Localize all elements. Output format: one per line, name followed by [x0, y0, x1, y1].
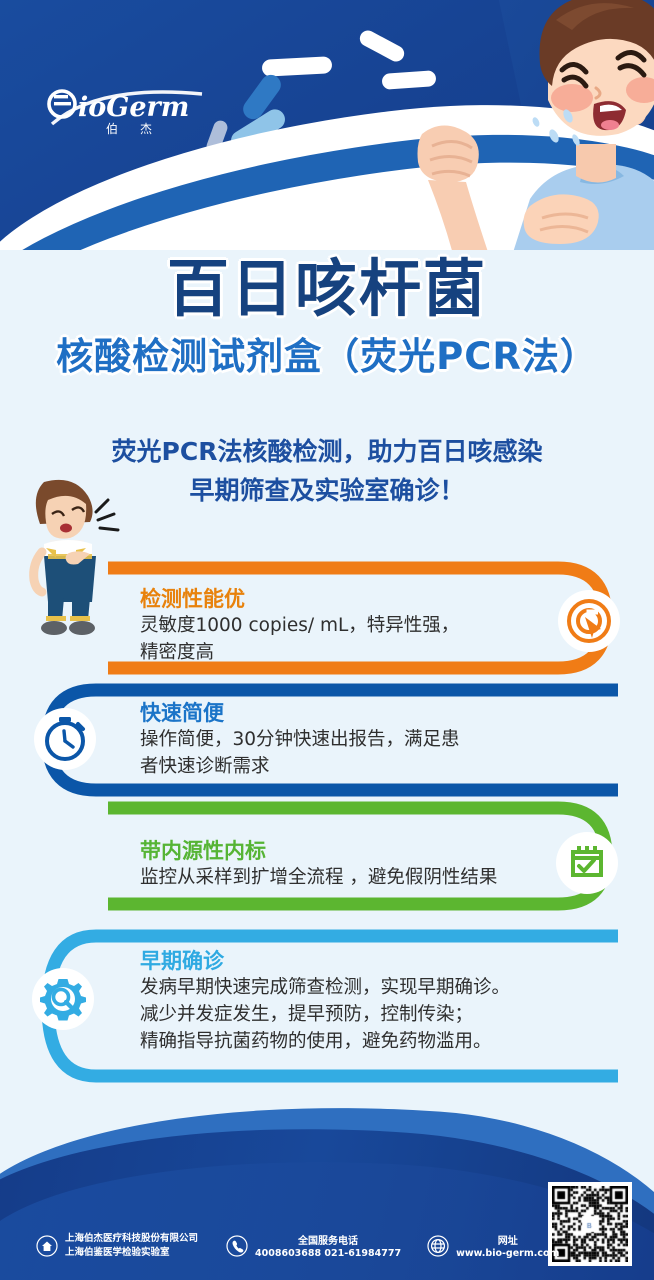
footer-website-group: 网址 www.bio-germ.com	[427, 1232, 559, 1261]
company-line-1: 上海伯杰医疗科技股份有限公司	[65, 1232, 198, 1246]
feature-body-line: 精确指导抗菌药物的使用，避免药物滥用。	[140, 1028, 610, 1055]
feature-body: 灵敏度1000 copies/ mL，特异性强， 精密度高	[140, 612, 550, 666]
website-url: www.bio-germ.com	[456, 1247, 559, 1261]
globe-icon	[427, 1235, 449, 1257]
coughing-boy-illustration	[380, 0, 654, 250]
target-cursor-icon	[558, 590, 620, 652]
company-line-2: 上海伯鉴医学检验实验室	[65, 1246, 198, 1260]
feature-text-block: 早期确诊 发病早期快速完成筛查检测，实现早期确诊。 减少并发症发生，提早预防，控…	[140, 948, 610, 1055]
feature-title: 早期确诊	[140, 948, 610, 974]
logo-wordmark: ioGerm	[78, 92, 189, 123]
phone-numbers: 4008603688 021-61984777	[255, 1247, 401, 1261]
feature-body-line: 操作简便，30分钟快速出报告，满足患	[140, 726, 570, 753]
feature-body-line: 者快速诊断需求	[140, 753, 570, 780]
feature-text-block: 带内源性内标 监控从采样到扩增全流程 ，避免假阴性结果	[140, 838, 560, 891]
feature-body: 操作简便，30分钟快速出报告，满足患 者快速诊断需求	[140, 726, 570, 780]
header-banner: ioGerm 伯 杰	[0, 0, 654, 250]
footer-contact-bar: 上海伯杰医疗科技股份有限公司 上海伯鉴医学检验实验室 全国服务电话 400860…	[0, 1222, 654, 1270]
feature-body-line: 发病早期快速完成筛查检测，实现早期确诊。	[140, 974, 610, 1001]
feature-body-line: 精密度高	[140, 639, 550, 666]
logo-cn-left: 伯	[106, 121, 118, 136]
logo-cn-right: 杰	[140, 122, 152, 136]
product-title: 百日咳杆菌	[0, 238, 654, 328]
footer-company-text: 上海伯杰医疗科技股份有限公司 上海伯鉴医学检验实验室	[65, 1232, 198, 1260]
feature-title: 快速简便	[140, 700, 570, 726]
website-heading: 网址	[456, 1232, 559, 1247]
phone-icon	[226, 1235, 248, 1257]
tagline-line-1: 荧光PCR法核酸检测，助力百日咳感染	[0, 432, 654, 471]
footer-phone-group: 全国服务电话 4008603688 021-61984777	[226, 1232, 401, 1261]
feature-title: 检测性能优	[140, 586, 550, 612]
brand-logo: ioGerm 伯 杰	[44, 78, 209, 140]
feature-body-line: 监控从采样到扩增全流程 ，避免假阴性结果	[140, 864, 560, 891]
feature-text-block: 检测性能优 灵敏度1000 copies/ mL，特异性强， 精密度高	[140, 586, 550, 666]
footer-company-group: 上海伯杰医疗科技股份有限公司 上海伯鉴医学检验实验室	[36, 1232, 198, 1260]
feature-title: 带内源性内标	[140, 838, 560, 864]
poster-root: ioGerm 伯 杰 百日咳杆菌 核酸检测试剂盒（荧光PCR法） 荧光PCR法核…	[0, 0, 654, 1280]
stopwatch-icon	[34, 708, 96, 770]
calendar-check-icon	[556, 832, 618, 894]
product-subtitle: 核酸检测试剂盒（荧光PCR法）	[0, 326, 654, 380]
home-icon	[36, 1235, 58, 1257]
feature-text-block: 快速简便 操作简便，30分钟快速出报告，满足患 者快速诊断需求	[140, 700, 570, 780]
footer-phone-text: 全国服务电话 4008603688 021-61984777	[255, 1232, 401, 1261]
feature-body: 发病早期快速完成筛查检测，实现早期确诊。 减少并发症发生，提早预防，控制传染； …	[140, 974, 610, 1055]
feature-body: 监控从采样到扩增全流程 ，避免假阴性结果	[140, 864, 560, 891]
footer-website-text: 网址 www.bio-germ.com	[456, 1232, 559, 1261]
phone-heading: 全国服务电话	[255, 1232, 401, 1247]
gear-search-icon	[32, 968, 94, 1030]
feature-body-line: 灵敏度1000 copies/ mL，特异性强，	[140, 612, 550, 639]
feature-body-line: 减少并发症发生，提早预防，控制传染；	[140, 1001, 610, 1028]
